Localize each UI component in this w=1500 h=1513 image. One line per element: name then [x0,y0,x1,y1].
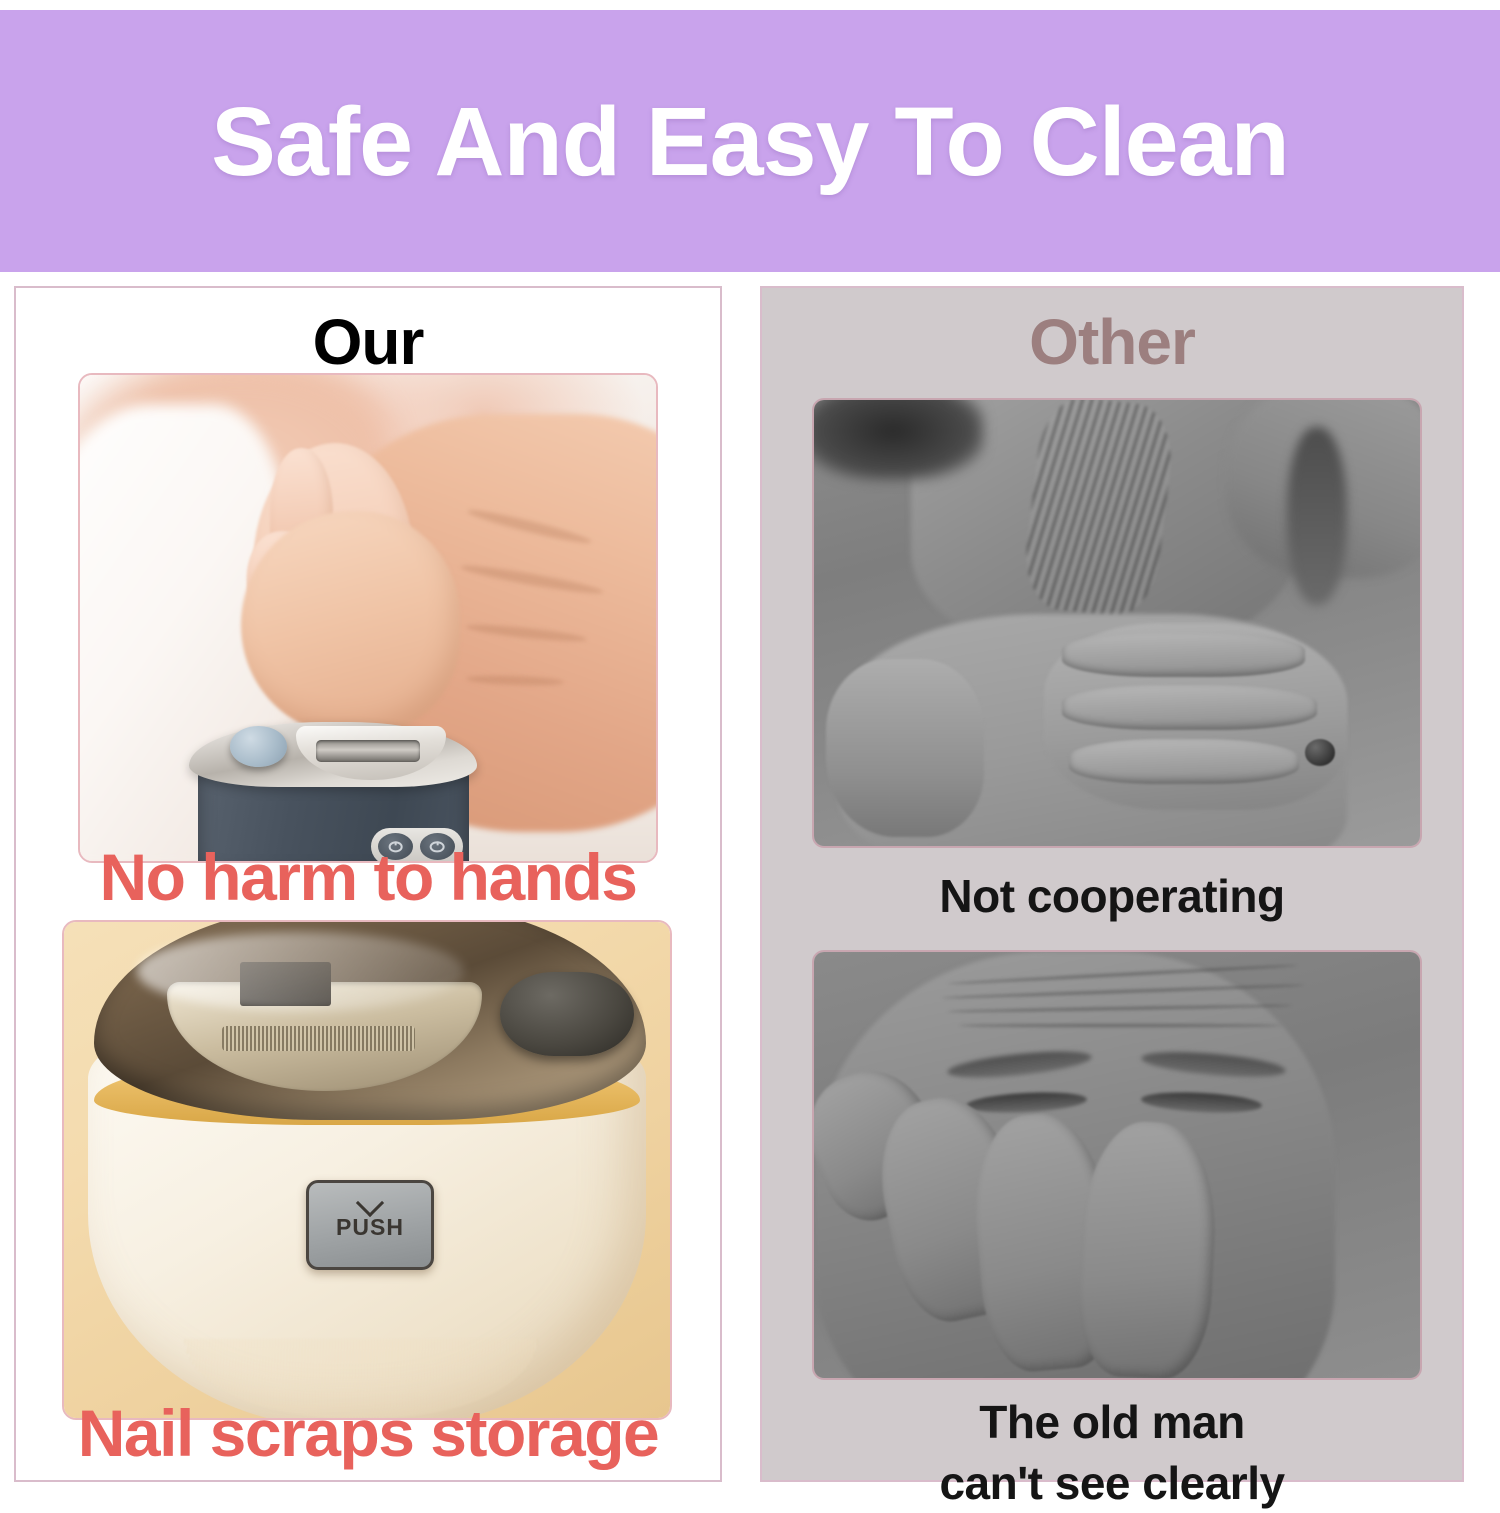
other-photo-old-man-frame [812,950,1422,1380]
trimmer-blade-slot [316,740,420,762]
trimmer-black-knob [500,972,633,1056]
other-panel: Other Not cooperating [760,286,1464,1482]
other-caption-old-man-line2: can't see clearly [762,1453,1462,1513]
our-panel-title: Our [16,288,720,374]
our-panel: Our [14,286,722,1482]
forehead-wrinkle [959,1024,1280,1027]
baby-hand-with-nail-trimmer-photo [80,375,656,861]
ring [1305,739,1335,766]
adult-hand-left [826,659,984,837]
other-caption-old-man: The old man can't see clearly [762,1392,1462,1513]
finger [1062,685,1317,730]
comparison-panels: Our [0,278,1500,1488]
arm-shadow [1287,427,1348,605]
lid-highlight [137,932,464,1011]
our-photo-baby-hand-frame [78,373,658,863]
our-caption-no-harm: No harm to hands [16,844,720,910]
push-button[interactable]: PUSH [306,1180,433,1270]
our-caption-nail-scraps: Nail scraps storage [16,1400,720,1466]
finger [1069,739,1299,784]
other-panel-title: Other [762,288,1462,374]
arrow-up-icon [356,1189,384,1217]
other-caption-old-man-line1: The old man [762,1392,1462,1453]
page-title: Safe And Easy To Clean [211,93,1289,190]
grayscale-old-man-squinting-photo [814,952,1420,1378]
finger [1062,632,1304,677]
trimmer-blade-ribs [222,1026,416,1051]
nail-trimmer-device [189,705,477,861]
adult-thumb [241,511,460,735]
grayscale-parent-holding-baby-photo [814,400,1420,846]
our-photo-device-frame: PUSH [62,920,672,1420]
header-banner: Safe And Easy To Clean [0,10,1500,272]
push-button-label: PUSH [336,1214,404,1241]
trimmer-knob [230,726,288,767]
nail-trimmer-push-button-closeup-photo: PUSH [64,922,670,1418]
other-photo-not-cooperating-frame [812,398,1422,848]
dark-corner [814,400,984,480]
other-caption-not-cooperating: Not cooperating [762,866,1462,927]
